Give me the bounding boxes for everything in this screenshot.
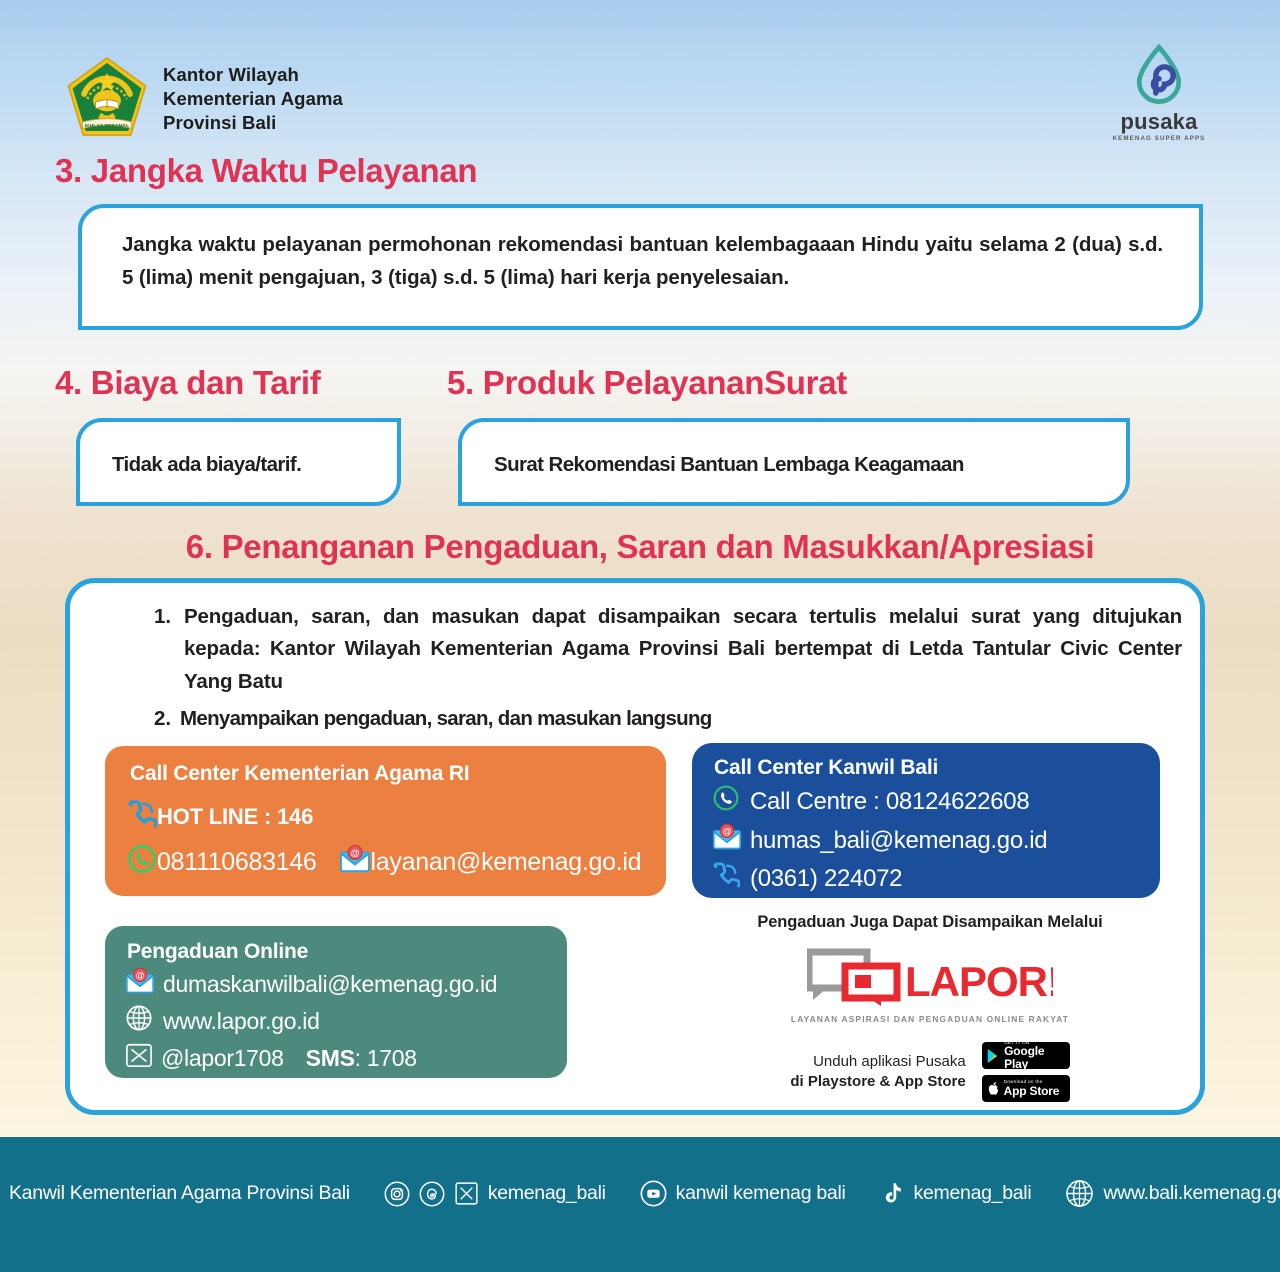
footer-item-website[interactable]: www.bali.kemenag.go.id	[1048, 1179, 1280, 1208]
hotline-row: HOT LINE : 146	[127, 800, 666, 834]
section-5-body: Surat Rekomendasi Bantuan Lembaga Keagam…	[494, 453, 964, 477]
phone-icon	[127, 800, 157, 834]
online-x-handle: @lapor1708	[161, 1045, 284, 1072]
section-3-heading: 3. Jangka Waktu Pelayanan	[55, 152, 477, 190]
section-6-box: 1. Pengaduan, saran, dan masukan dapat d…	[65, 578, 1205, 1115]
list-text-1: Pengaduan, saran, dan masukan dapat disa…	[184, 601, 1182, 698]
email-icon: @	[125, 967, 155, 1001]
lapor-panel: Pengaduan Juga Dapat Disampaikan Melalui…	[670, 913, 1190, 1102]
brand-text: Kantor Wilayah Kementerian Agama Provins…	[163, 63, 343, 135]
app-store-big-text: App Store	[1004, 1085, 1060, 1098]
sms-label: SMS	[306, 1045, 355, 1072]
kanwil-phone-text: (0361) 224072	[750, 865, 902, 893]
globe-icon	[125, 1004, 153, 1038]
online-x-row: @lapor1708 SMS : 1708	[125, 1041, 567, 1075]
section-6-heading: 6. Penanganan Pengaduan, Saran dan Masuk…	[0, 528, 1280, 566]
pusaka-droplet-icon	[1106, 44, 1212, 104]
store-badges: GET IT ON Google Play Download on the Ap…	[982, 1042, 1070, 1102]
section-4-heading: 4. Biaya dan Tarif	[55, 364, 320, 402]
pengaduan-online-title: Pengaduan Online	[127, 940, 567, 964]
hotline-text: HOT LINE : 146	[157, 804, 313, 830]
brand-line-1: Kantor Wilayah	[163, 63, 343, 87]
pengaduan-online-card: Pengaduan Online @ dumaskanwilbali@kemen…	[105, 926, 567, 1078]
online-web-row: www.lapor.go.id	[125, 1004, 567, 1038]
pusaka-wordmark: pusaka	[1106, 111, 1212, 133]
lapor-headline: Pengaduan Juga Dapat Disampaikan Melalui	[670, 913, 1190, 932]
list-number-1: 1.	[154, 601, 171, 633]
kemenag-pentagon-logo: IKHLAS BERAMAL	[66, 56, 148, 142]
sms-value: : 1708	[355, 1045, 417, 1072]
apple-icon	[987, 1081, 1000, 1097]
email-icon: @	[339, 845, 371, 880]
google-play-big-text: Google Play	[1004, 1045, 1064, 1070]
list-text-2: Menyampaikan pengaduan, saran, dan masuk…	[180, 703, 1182, 735]
section-5-heading: 5. Produk PelayananSurat	[447, 364, 847, 402]
kanwil-email-text: humas_bali@kemenag.go.id	[750, 827, 1047, 855]
kanwil-phone-row: (0361) 224072	[712, 862, 1160, 895]
footer-label-tiktok: kemenag_bali	[914, 1182, 1032, 1205]
threads-icon	[419, 1181, 445, 1207]
svg-text:IKHLAS BERAMAL: IKHLAS BERAMAL	[85, 123, 129, 129]
tiktok-icon	[880, 1180, 905, 1207]
footer-label-social-handles: kemenag_bali	[488, 1182, 606, 1205]
email-icon: @	[712, 823, 742, 858]
list-number-2: 2.	[154, 703, 171, 735]
kanwil-whatsapp-row: Call Centre : 08124622608	[712, 784, 1160, 819]
svg-text:@: @	[350, 848, 359, 858]
call-center-kemenag-card: Call Center Kementerian Agama RI HOT LIN…	[105, 746, 666, 896]
brand-line-3: Provinsi Bali	[163, 111, 343, 135]
email-address: layanan@kemenag.go.id	[371, 848, 642, 877]
phone-icon	[712, 862, 740, 895]
section-4-box: Tidak ada biaya/tarif.	[76, 418, 401, 506]
footer-item-tiktok[interactable]: kemenag_bali	[863, 1180, 1049, 1207]
svg-text:@: @	[723, 826, 732, 836]
unduh-line-2: di Playstore & App Store	[790, 1072, 965, 1092]
pusaka-logo: pusaka KEMENAG SUPER APPS	[1106, 44, 1212, 142]
app-store-badge[interactable]: Download on the App Store	[982, 1075, 1070, 1102]
call-center-kanwil-title: Call Center Kanwil Bali	[714, 756, 1160, 780]
whatsapp-icon	[712, 784, 740, 819]
svg-text:@: @	[136, 970, 145, 980]
whatsapp-email-row: 081110683146 @ layanan@kemenag.go.id	[127, 844, 666, 881]
online-email-text: dumaskanwilbali@kemenag.go.id	[163, 971, 497, 998]
page-header: IKHLAS BERAMAL Kantor Wilayah Kementeria…	[0, 0, 1280, 145]
lapor-tagline: LAYANAN ASPIRASI DAN PENGADUAN ONLINE RA…	[670, 1014, 1190, 1024]
google-play-badge[interactable]: GET IT ON Google Play	[982, 1042, 1070, 1069]
kanwil-email-row: @ humas_bali@kemenag.go.id	[712, 823, 1160, 858]
footer-social-bar: Kanwil Kementerian Agama Provinsi Bali	[0, 1137, 1280, 1272]
pusaka-tagline: KEMENAG SUPER APPS	[1106, 135, 1212, 142]
footer-label-website: www.bali.kemenag.go.id	[1103, 1182, 1280, 1205]
unduh-text: Unduh aplikasi Pusaka di Playstore & App…	[790, 1052, 965, 1093]
brand-block: IKHLAS BERAMAL Kantor Wilayah Kementeria…	[66, 56, 343, 142]
call-center-kemenag-title: Call Center Kementerian Agama RI	[130, 762, 666, 786]
lapor-wordmark-text: LAPOR!	[905, 958, 1053, 1005]
x-twitter-icon	[454, 1181, 479, 1206]
section-3-body: Jangka waktu pelayanan permohonan rekome…	[122, 228, 1163, 294]
footer-item-youtube[interactable]: kanwil kemenag bali	[623, 1180, 863, 1207]
footer-label-facebook: Kanwil Kementerian Agama Provinsi Bali	[9, 1182, 350, 1205]
complaint-list-item-2: 2. Menyampaikan pengaduan, saran, dan ma…	[92, 703, 1182, 735]
footer-label-youtube: kanwil kemenag bali	[676, 1182, 846, 1205]
section-5-box: Surat Rekomendasi Bantuan Lembaga Keagam…	[458, 418, 1130, 506]
x-twitter-icon	[125, 1041, 153, 1075]
instagram-icon	[384, 1181, 410, 1207]
kanwil-whatsapp-text: Call Centre : 08124622608	[750, 788, 1029, 816]
infographic-page: IKHLAS BERAMAL Kantor Wilayah Kementeria…	[0, 0, 1280, 1272]
lapor-logo: LAPOR!	[807, 948, 1053, 1011]
footer-item-facebook[interactable]: Kanwil Kementerian Agama Provinsi Bali	[0, 1180, 367, 1207]
section-4-body: Tidak ada biaya/tarif.	[112, 453, 301, 477]
youtube-icon	[640, 1180, 667, 1207]
section-3-box: Jangka waktu pelayanan permohonan rekome…	[78, 204, 1203, 330]
google-play-icon	[987, 1048, 1001, 1064]
whatsapp-number: 081110683146	[157, 848, 317, 877]
globe-icon	[1065, 1179, 1094, 1208]
complaint-list-item-1: 1. Pengaduan, saran, dan masukan dapat d…	[92, 601, 1182, 698]
whatsapp-icon	[127, 844, 157, 881]
page-footer: Kanwil Kementerian Agama Provinsi Bali	[0, 1137, 1280, 1272]
footer-item-social-handles[interactable]: kemenag_bali	[367, 1181, 623, 1207]
brand-line-2: Kementerian Agama	[163, 87, 343, 111]
online-web-text: www.lapor.go.id	[163, 1008, 320, 1035]
unduh-line-1: Unduh aplikasi Pusaka	[790, 1052, 965, 1072]
online-email-row: @ dumaskanwilbali@kemenag.go.id	[125, 967, 567, 1001]
unduh-section: Unduh aplikasi Pusaka di Playstore & App…	[670, 1042, 1190, 1102]
call-center-kanwil-card: Call Center Kanwil Bali Call Centre : 08…	[692, 743, 1160, 898]
